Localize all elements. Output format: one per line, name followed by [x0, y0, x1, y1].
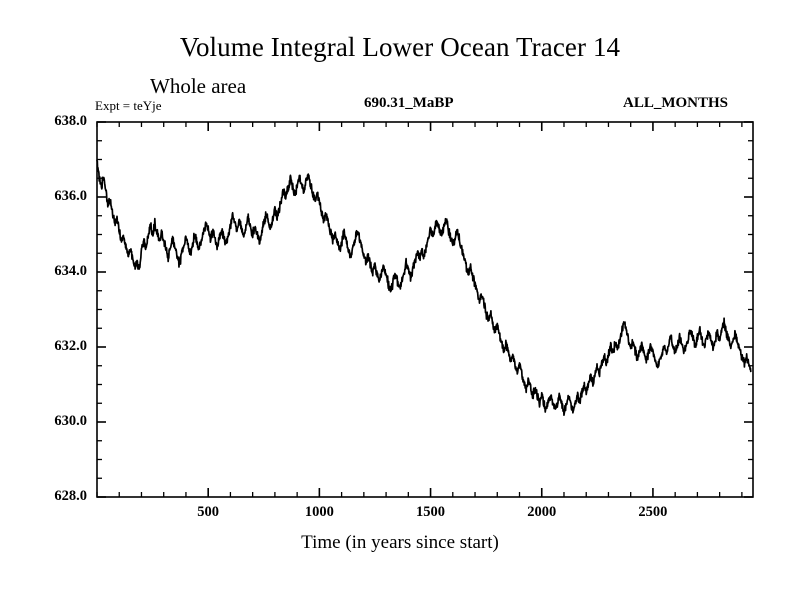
axis-ticks [97, 122, 753, 497]
plot-frame-rect [97, 122, 753, 497]
data-series-line [97, 161, 751, 415]
data-series-group [97, 161, 751, 415]
plot-canvas: Volume Integral Lower Ocean Tracer 14 Wh… [0, 0, 800, 600]
chart-plot-area [0, 0, 800, 600]
axis-frame [97, 122, 753, 497]
